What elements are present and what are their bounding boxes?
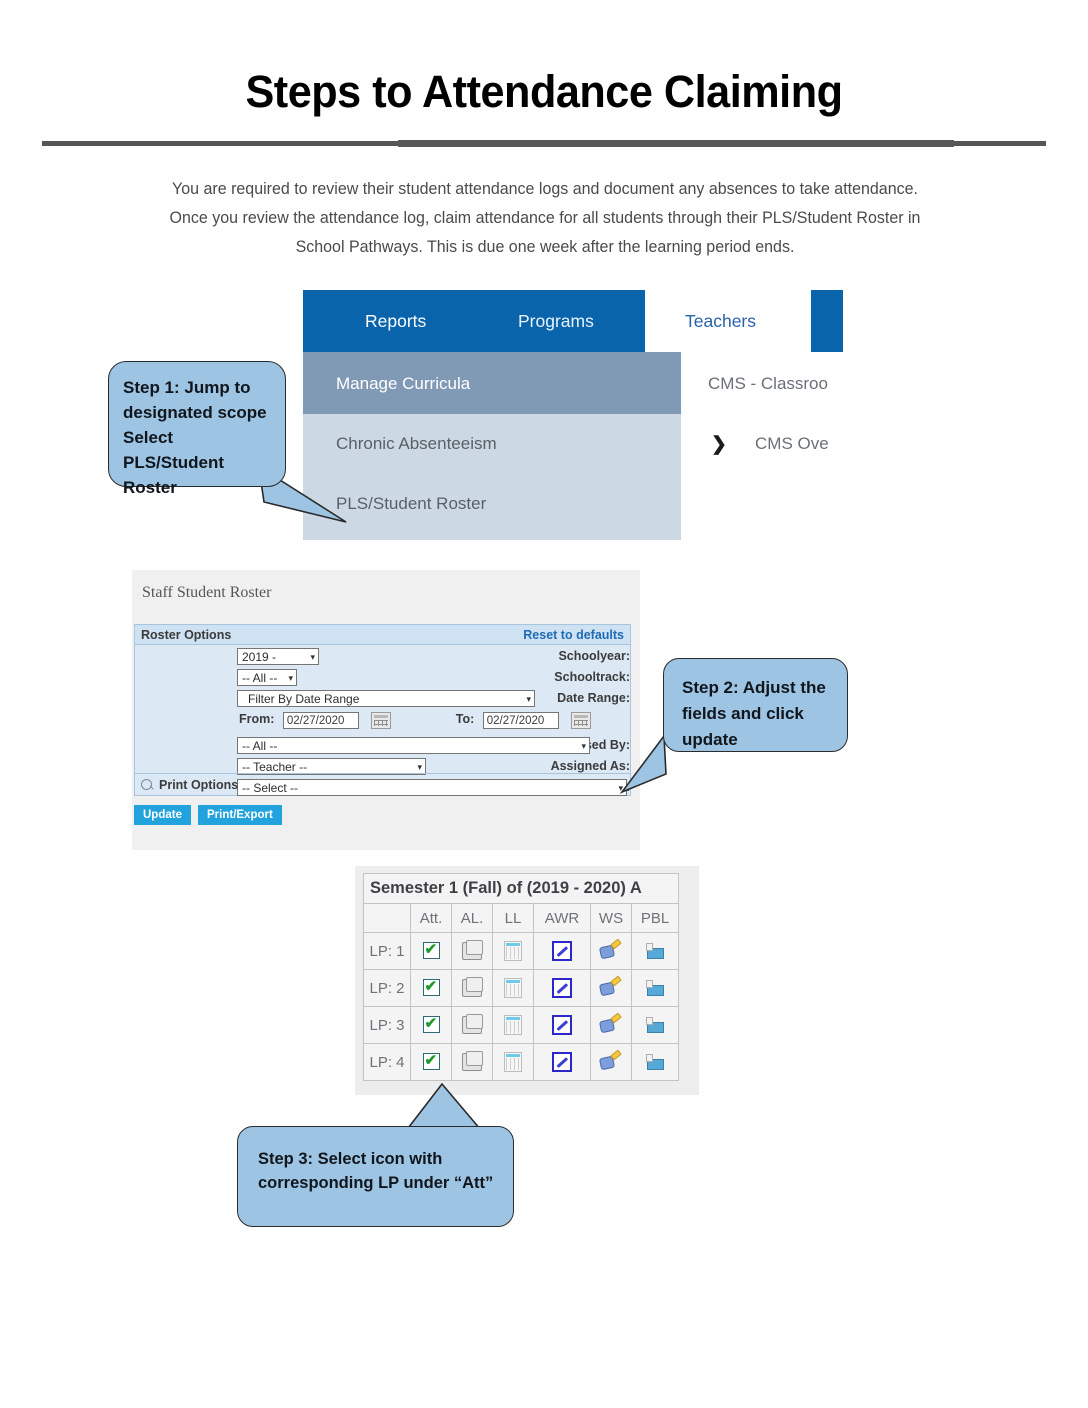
nav-screenshot: Reports Programs Teachers Manage Curricu… xyxy=(303,290,850,540)
book-blue-icon[interactable] xyxy=(645,1016,666,1035)
field-row-date-range: Date Range: Filter By Date Range xyxy=(135,688,630,709)
pbl-cell-lp2[interactable] xyxy=(632,970,679,1007)
semester-table-header-row: Att. AL. LL AWR WS PBL xyxy=(364,904,679,933)
from-label: From: xyxy=(239,710,274,729)
field-row-schoolyear: Schoolyear: 2019 - 2020 xyxy=(135,646,630,667)
al-cell-lp2[interactable] xyxy=(452,970,493,1007)
pen-edit-icon[interactable] xyxy=(552,941,572,961)
ws-cell-lp1[interactable] xyxy=(591,933,632,970)
field-row-schooltrack: Schooltrack: -- All -- xyxy=(135,667,630,688)
field-row-date-inputs: From: 02/27/2020 To: 02/27/2020 xyxy=(135,710,630,731)
table-row: LP: 1 xyxy=(364,933,679,970)
column-header-awr: AWR xyxy=(534,904,591,933)
grid-sheet-icon[interactable] xyxy=(504,978,522,998)
schoolyear-select[interactable]: 2019 - 2020 xyxy=(237,648,319,665)
pen-edit-icon[interactable] xyxy=(552,1052,572,1072)
awr-cell-lp4[interactable] xyxy=(534,1044,591,1081)
att-cell-lp1[interactable] xyxy=(411,933,452,970)
roster-panel-screenshot: Staff Student Roster Roster Options Rese… xyxy=(132,570,640,850)
table-row: LP: 3 xyxy=(364,1007,679,1044)
lp-label-3: LP: 3 xyxy=(364,1007,411,1044)
callout-step-2: Step 2: Adjust the fields and click upda… xyxy=(663,658,848,752)
semester-title: Semester 1 (Fall) of (2019 - 2020) A xyxy=(364,874,679,904)
al-cell-lp4[interactable] xyxy=(452,1044,493,1081)
callout-step-3: Step 3: Select icon with corresponding L… xyxy=(237,1126,514,1227)
pbl-cell-lp3[interactable] xyxy=(632,1007,679,1044)
screenshot-crop-mask xyxy=(851,285,1088,545)
awr-cell-lp1[interactable] xyxy=(534,933,591,970)
ll-cell-lp3[interactable] xyxy=(493,1007,534,1044)
callout-step-2-text: Step 2: Adjust the fields and click upda… xyxy=(682,675,837,753)
roster-options-header: Roster Options Reset to defaults xyxy=(135,625,630,645)
folder-stack-icon[interactable] xyxy=(462,979,482,997)
awr-cell-lp3[interactable] xyxy=(534,1007,591,1044)
lp-label-4: LP: 4 xyxy=(364,1044,411,1081)
nav-item-programs[interactable]: Programs xyxy=(518,311,594,332)
print-export-button[interactable]: Print/Export xyxy=(198,805,282,825)
ll-cell-lp2[interactable] xyxy=(493,970,534,1007)
ws-cell-lp3[interactable] xyxy=(591,1007,632,1044)
ws-cell-lp2[interactable] xyxy=(591,970,632,1007)
pbl-cell-lp1[interactable] xyxy=(632,933,679,970)
grid-sheet-icon[interactable] xyxy=(504,1052,522,1072)
nav-right-item-cms-overview[interactable]: CMS Ove xyxy=(755,434,829,454)
reset-to-defaults-link[interactable]: Reset to defaults xyxy=(523,628,624,642)
nav-item-reports[interactable]: Reports xyxy=(365,311,426,332)
schooltrack-select[interactable]: -- All -- xyxy=(237,669,297,686)
supervised-by-select[interactable]: -- All -- xyxy=(237,737,590,754)
search-icon xyxy=(141,779,152,790)
att-cell-lp2[interactable] xyxy=(411,970,452,1007)
book-blue-icon[interactable] xyxy=(645,1053,666,1072)
callout-step-1-text: Step 1: Jump to designated scope Select … xyxy=(123,375,275,500)
print-options-label: Print Options xyxy=(159,778,238,792)
pen-edit-icon[interactable] xyxy=(552,978,572,998)
checkbox-checked-icon[interactable] xyxy=(423,1053,440,1070)
checkbox-checked-icon[interactable] xyxy=(423,942,440,959)
semester-table: Semester 1 (Fall) of (2019 - 2020) A Att… xyxy=(363,873,679,1081)
book-blue-icon[interactable] xyxy=(645,942,666,961)
awr-cell-lp2[interactable] xyxy=(534,970,591,1007)
callout-step-1: Step 1: Jump to designated scope Select … xyxy=(108,361,286,487)
callout-step-3-text: Step 3: Select icon with corresponding L… xyxy=(258,1147,503,1195)
paintbrush-icon[interactable] xyxy=(600,941,622,961)
dropdown-item-chronic-absenteeism[interactable]: Chronic Absenteeism xyxy=(336,434,497,454)
print-options-row[interactable]: Print Options xyxy=(135,773,630,795)
folder-stack-icon[interactable] xyxy=(462,1016,482,1034)
paintbrush-icon[interactable] xyxy=(600,1052,622,1072)
chevron-down-icon[interactable]: ❯ xyxy=(711,433,727,456)
date-to-input[interactable]: 02/27/2020 xyxy=(483,712,559,729)
lp-label-2: LP: 2 xyxy=(364,970,411,1007)
intro-paragraph: You are required to review their student… xyxy=(152,175,938,262)
att-cell-lp3[interactable] xyxy=(411,1007,452,1044)
page-title: Steps to Attendance Claiming xyxy=(22,66,1066,118)
column-header-ws: WS xyxy=(591,904,632,933)
pen-edit-icon[interactable] xyxy=(552,1015,572,1035)
paintbrush-icon[interactable] xyxy=(600,1015,622,1035)
att-cell-lp4[interactable] xyxy=(411,1044,452,1081)
lp-label-1: LP: 1 xyxy=(364,933,411,970)
semester-table-title-row: Semester 1 (Fall) of (2019 - 2020) A xyxy=(364,874,679,904)
paintbrush-icon[interactable] xyxy=(600,978,622,998)
date-from-input[interactable]: 02/27/2020 xyxy=(283,712,359,729)
checkbox-checked-icon[interactable] xyxy=(423,1016,440,1033)
date-range-select[interactable]: Filter By Date Range xyxy=(237,690,535,707)
calendar-icon-from[interactable] xyxy=(371,712,391,729)
nav-right-item-cms-classroom[interactable]: CMS - Classroo xyxy=(708,374,828,394)
dropdown-item-manage-curricula[interactable]: Manage Curricula xyxy=(336,374,470,394)
column-header-al: AL. xyxy=(452,904,493,933)
roster-options-box: Roster Options Reset to defaults Schooly… xyxy=(134,624,631,796)
ll-cell-lp4[interactable] xyxy=(493,1044,534,1081)
nav-item-teachers[interactable]: Teachers xyxy=(685,311,756,332)
table-row: LP: 4 xyxy=(364,1044,679,1081)
column-header-att: Att. xyxy=(411,904,452,933)
al-cell-lp1[interactable] xyxy=(452,933,493,970)
semester-table-screenshot: Semester 1 (Fall) of (2019 - 2020) A Att… xyxy=(355,866,699,1095)
checkbox-checked-icon[interactable] xyxy=(423,979,440,996)
field-row-supervised-by: Supervised By: -- All -- xyxy=(135,735,630,756)
grid-sheet-icon[interactable] xyxy=(504,941,522,961)
grid-sheet-icon[interactable] xyxy=(504,1015,522,1035)
roster-panel-title: Staff Student Roster xyxy=(142,584,271,602)
to-label: To: xyxy=(456,710,475,729)
column-header-pbl: PBL xyxy=(632,904,679,933)
nav-bar-right-tab xyxy=(811,290,843,352)
table-row: LP: 2 xyxy=(364,970,679,1007)
al-cell-lp3[interactable] xyxy=(452,1007,493,1044)
folder-stack-icon[interactable] xyxy=(462,1053,482,1071)
book-blue-icon[interactable] xyxy=(645,979,666,998)
ws-cell-lp4[interactable] xyxy=(591,1044,632,1081)
title-divider-accent xyxy=(398,140,954,147)
column-header-blank xyxy=(364,904,411,933)
ll-cell-lp1[interactable] xyxy=(493,933,534,970)
update-button[interactable]: Update xyxy=(134,805,191,825)
pbl-cell-lp4[interactable] xyxy=(632,1044,679,1081)
column-header-ll: LL xyxy=(493,904,534,933)
calendar-icon-to[interactable] xyxy=(571,712,591,729)
roster-options-label: Roster Options xyxy=(141,628,231,642)
folder-stack-icon[interactable] xyxy=(462,942,482,960)
